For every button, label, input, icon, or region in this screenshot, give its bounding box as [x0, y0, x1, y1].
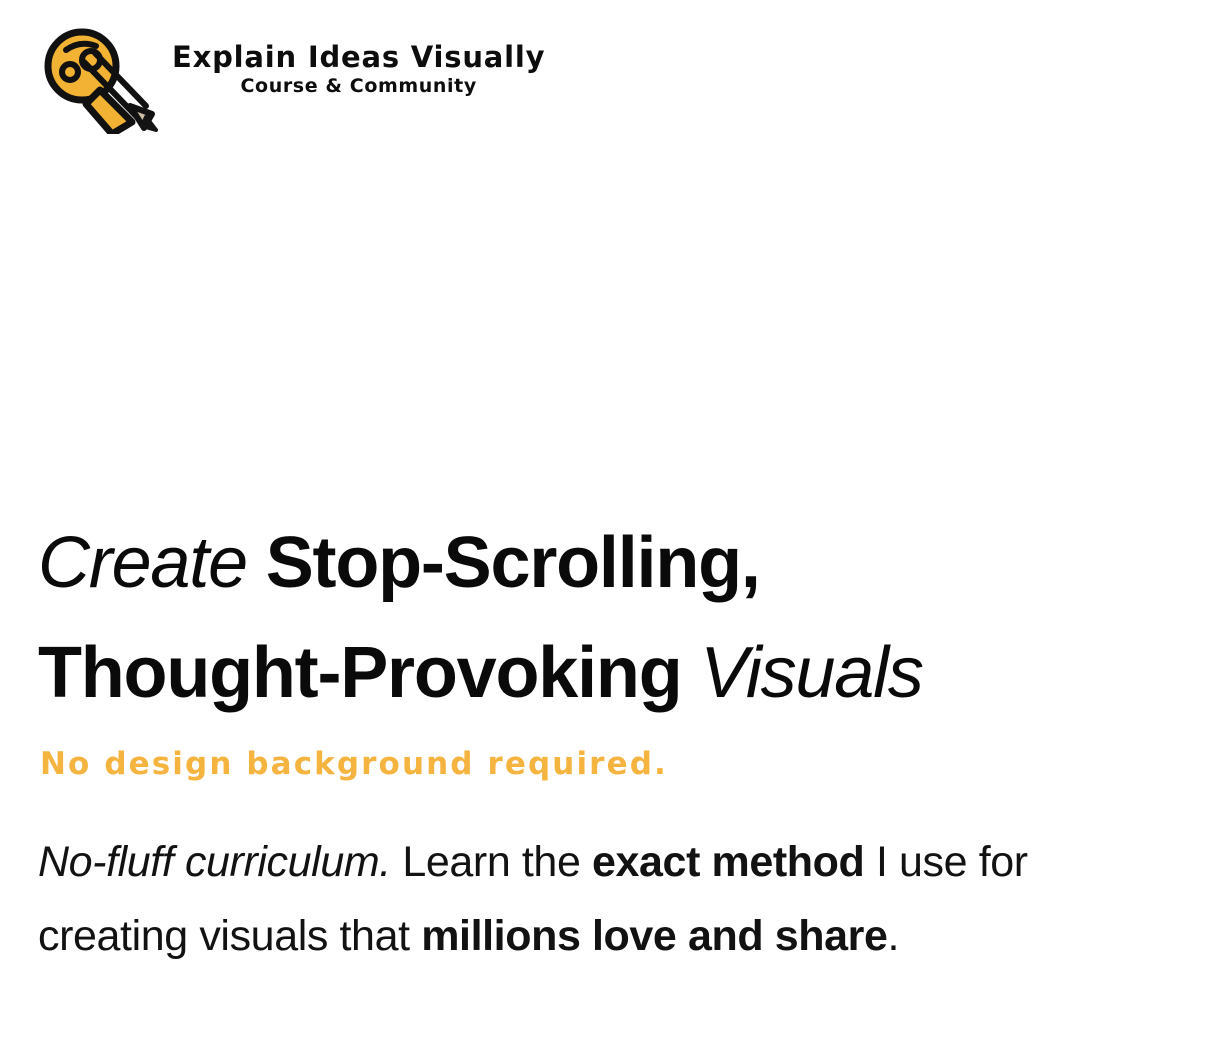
- headline-seg-stop-scrolling: Stop-Scrolling,: [266, 523, 760, 603]
- lightbulb-pencil-icon: [34, 22, 158, 134]
- brand-lockup[interactable]: Explain Ideas Visually Course & Communit…: [34, 22, 545, 134]
- brand-wordmark: Explain Ideas Visually Course & Communit…: [172, 42, 545, 114]
- headline-line-2: Thought-Provoking Visuals: [38, 633, 923, 713]
- brand-title: Explain Ideas Visually: [172, 42, 545, 72]
- hero-kicker: No design background required.: [40, 746, 1178, 783]
- hero-section: Create Stop-Scrolling, Thought-Provoking…: [38, 508, 1178, 973]
- lede-seg-millions-love-and-share: millions love and share: [421, 912, 887, 960]
- headline-seg-thought-provoking: Thought-Provoking: [38, 633, 700, 713]
- lede-seg-learn-the: Learn the: [391, 838, 592, 886]
- lede-seg-exact-method: exact method: [592, 838, 864, 886]
- page-title: Create Stop-Scrolling, Thought-Provoking…: [38, 508, 1178, 728]
- page-root: Explain Ideas Visually Course & Communit…: [0, 0, 1220, 1038]
- lede-seg-no-fluff: No-fluff curriculum.: [38, 838, 391, 886]
- brand-subtitle: Course & Community: [241, 76, 477, 98]
- headline-seg-create: Create: [38, 523, 266, 603]
- lede-seg-period: .: [888, 912, 900, 960]
- headline-line-1: Create Stop-Scrolling,: [38, 523, 760, 603]
- headline-seg-visuals: Visuals: [700, 633, 922, 713]
- hero-lede: No-fluff curriculum. Learn the exact met…: [38, 825, 1178, 973]
